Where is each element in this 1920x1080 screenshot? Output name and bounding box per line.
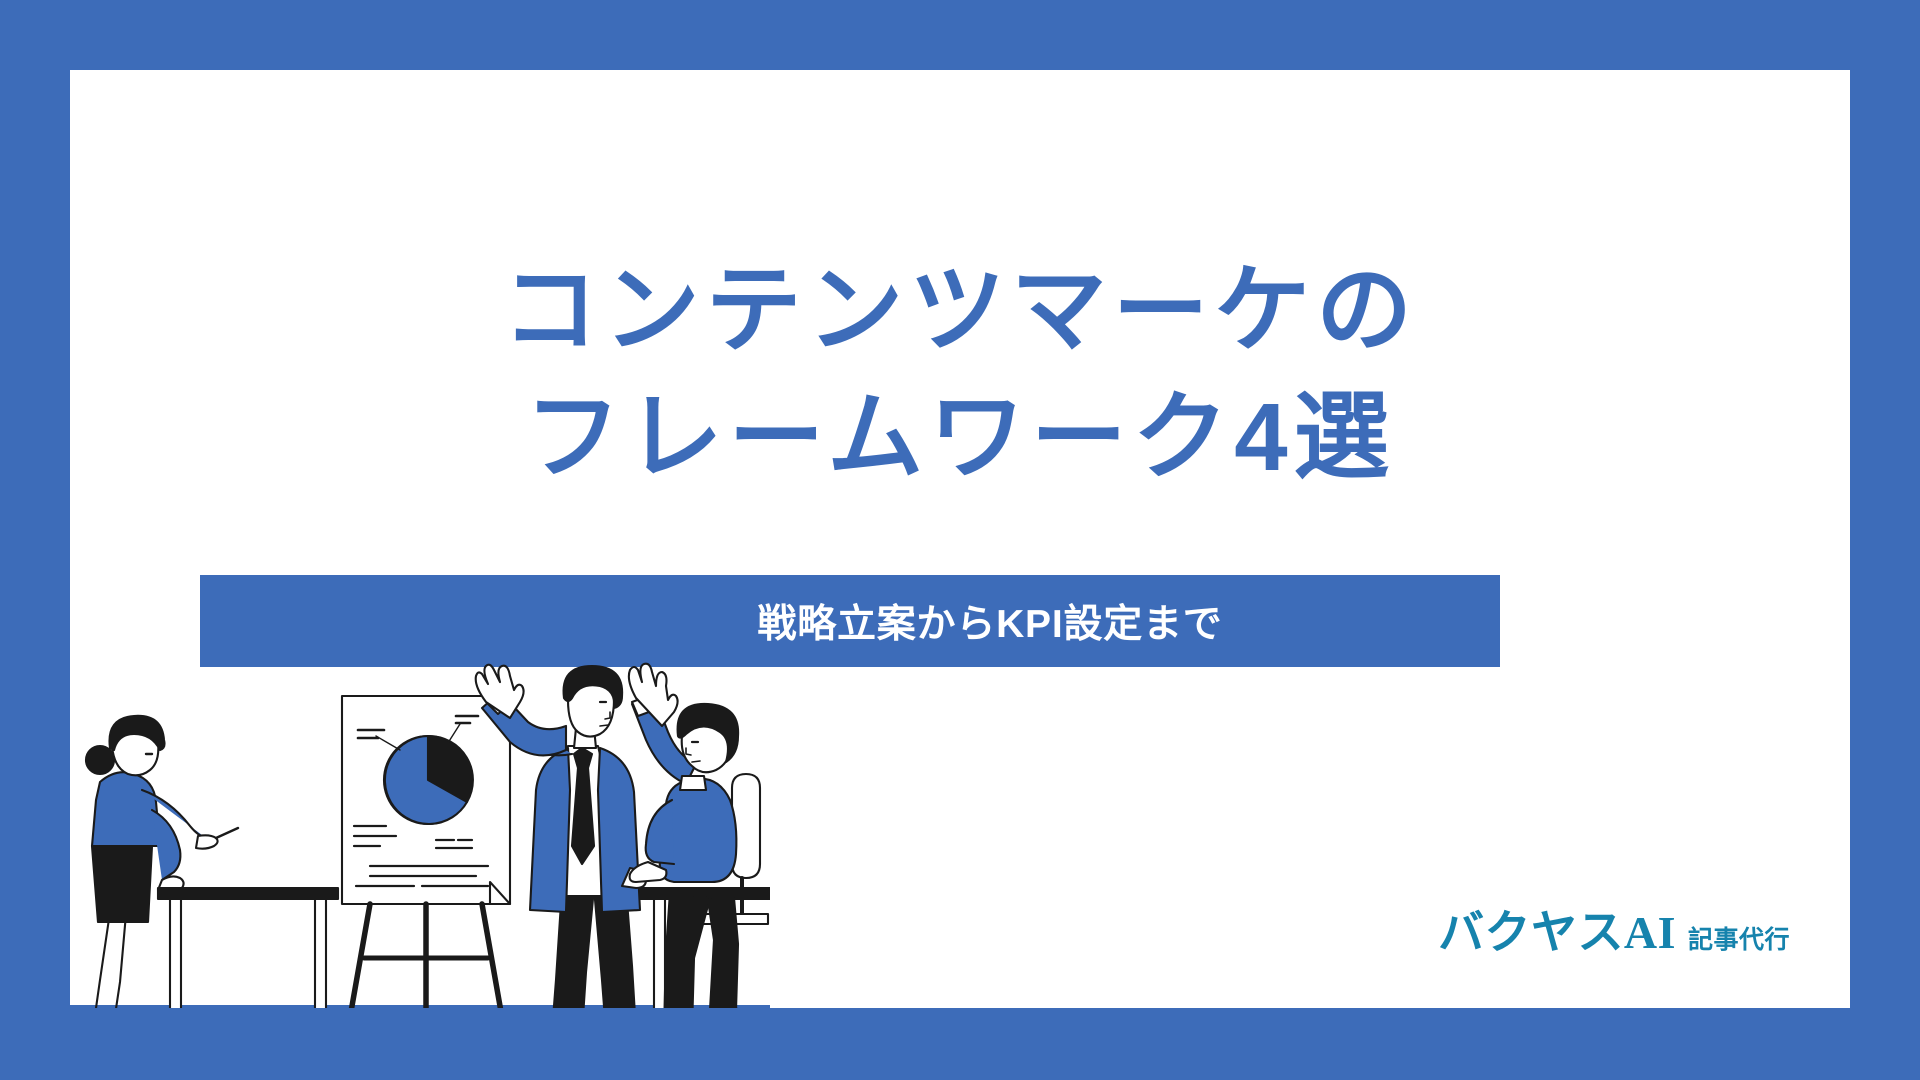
left-table [158,888,338,1008]
headline-line-1: コンテンツマーケの [70,248,1850,375]
seated-person-figure [629,664,768,1008]
slide-canvas: コンテンツマーケの フレームワーク4選 戦略立案からKPI設定まで バクヤスAI… [0,0,1920,1080]
woman-figure [80,716,238,1008]
brand-logo-main: バクヤスAI [1438,910,1676,956]
easel-with-chart [342,696,510,1008]
slide-card: コンテンツマーケの フレームワーク4選 戦略立案からKPI設定まで バクヤスAI… [70,70,1850,1008]
brand-logo: バクヤスAI 記事代行 [1438,910,1790,956]
business-team-presentation-illustration [70,650,770,1008]
brand-logo-sub: 記事代行 [1688,928,1790,953]
headline-line-2: フレームワーク4選 [70,375,1850,502]
page-title: コンテンツマーケの フレームワーク4選 [70,248,1850,501]
subtitle-text: 戦略立案からKPI設定まで [757,593,1222,649]
illustration-svg [70,650,770,1008]
